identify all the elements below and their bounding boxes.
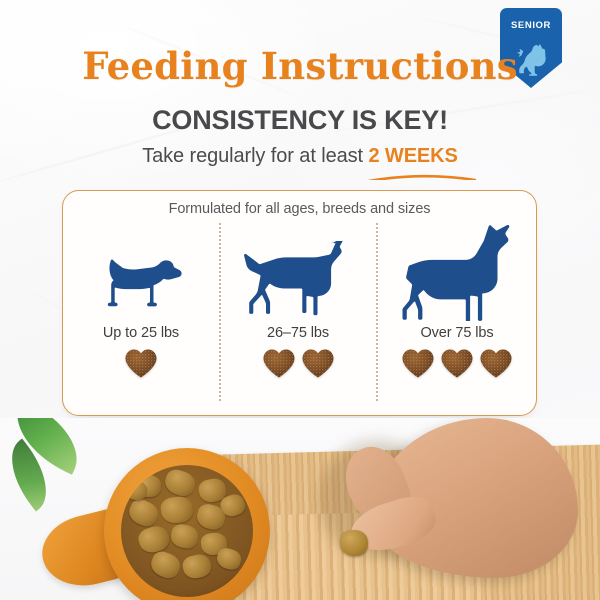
tagline-prefix: Take regularly for at least: [142, 145, 368, 167]
food-bowl: [104, 448, 270, 600]
feeding-chart-card: Formulated for all ages, breeds and size…: [62, 190, 537, 416]
product-photo: [0, 418, 600, 600]
tagline-underline-swoosh: [367, 170, 477, 180]
weight-label: Over 75 lbs: [380, 325, 534, 341]
kibble-heart-icon: [262, 348, 296, 379]
column-divider: [219, 223, 221, 401]
large-dog-silhouette-icon: [380, 223, 534, 321]
column-divider: [376, 223, 378, 401]
senior-badge-label: SENIOR: [500, 8, 562, 31]
kibble-row-small: [65, 348, 217, 379]
small-dog-silhouette-icon: [65, 223, 217, 321]
kibble-row-medium: [223, 348, 373, 379]
kibble-heart-icon: [440, 348, 474, 379]
kibble-heart-icon: [401, 348, 435, 379]
card-heading: Formulated for all ages, breeds and size…: [63, 191, 536, 217]
size-column-large: Over 75 lbs: [380, 223, 534, 403]
page-title: Feeding Instructions: [0, 44, 600, 88]
medium-dog-silhouette-icon: [223, 223, 373, 321]
kibble-heart-icon: [301, 348, 335, 379]
kibble-row-large: [380, 348, 534, 379]
held-kibble-piece: [340, 530, 368, 556]
weight-label: Up to 25 lbs: [65, 325, 217, 341]
infographic-page: SENIOR Feeding Instructions CONSISTENCY …: [0, 0, 600, 600]
kibble-heart-icon: [124, 348, 158, 379]
kibble-heart-icon: [479, 348, 513, 379]
page-subtitle: CONSISTENCY IS KEY!: [0, 105, 600, 136]
size-column-small: Up to 25 lbs: [65, 223, 217, 403]
size-column-medium: 26–75 lbs: [223, 223, 373, 403]
bowl-interior: [121, 465, 253, 597]
tagline: Take regularly for at least 2 WEEKS: [0, 145, 600, 168]
tagline-highlight: 2 WEEKS: [368, 145, 457, 167]
weight-label: 26–75 lbs: [223, 325, 373, 341]
